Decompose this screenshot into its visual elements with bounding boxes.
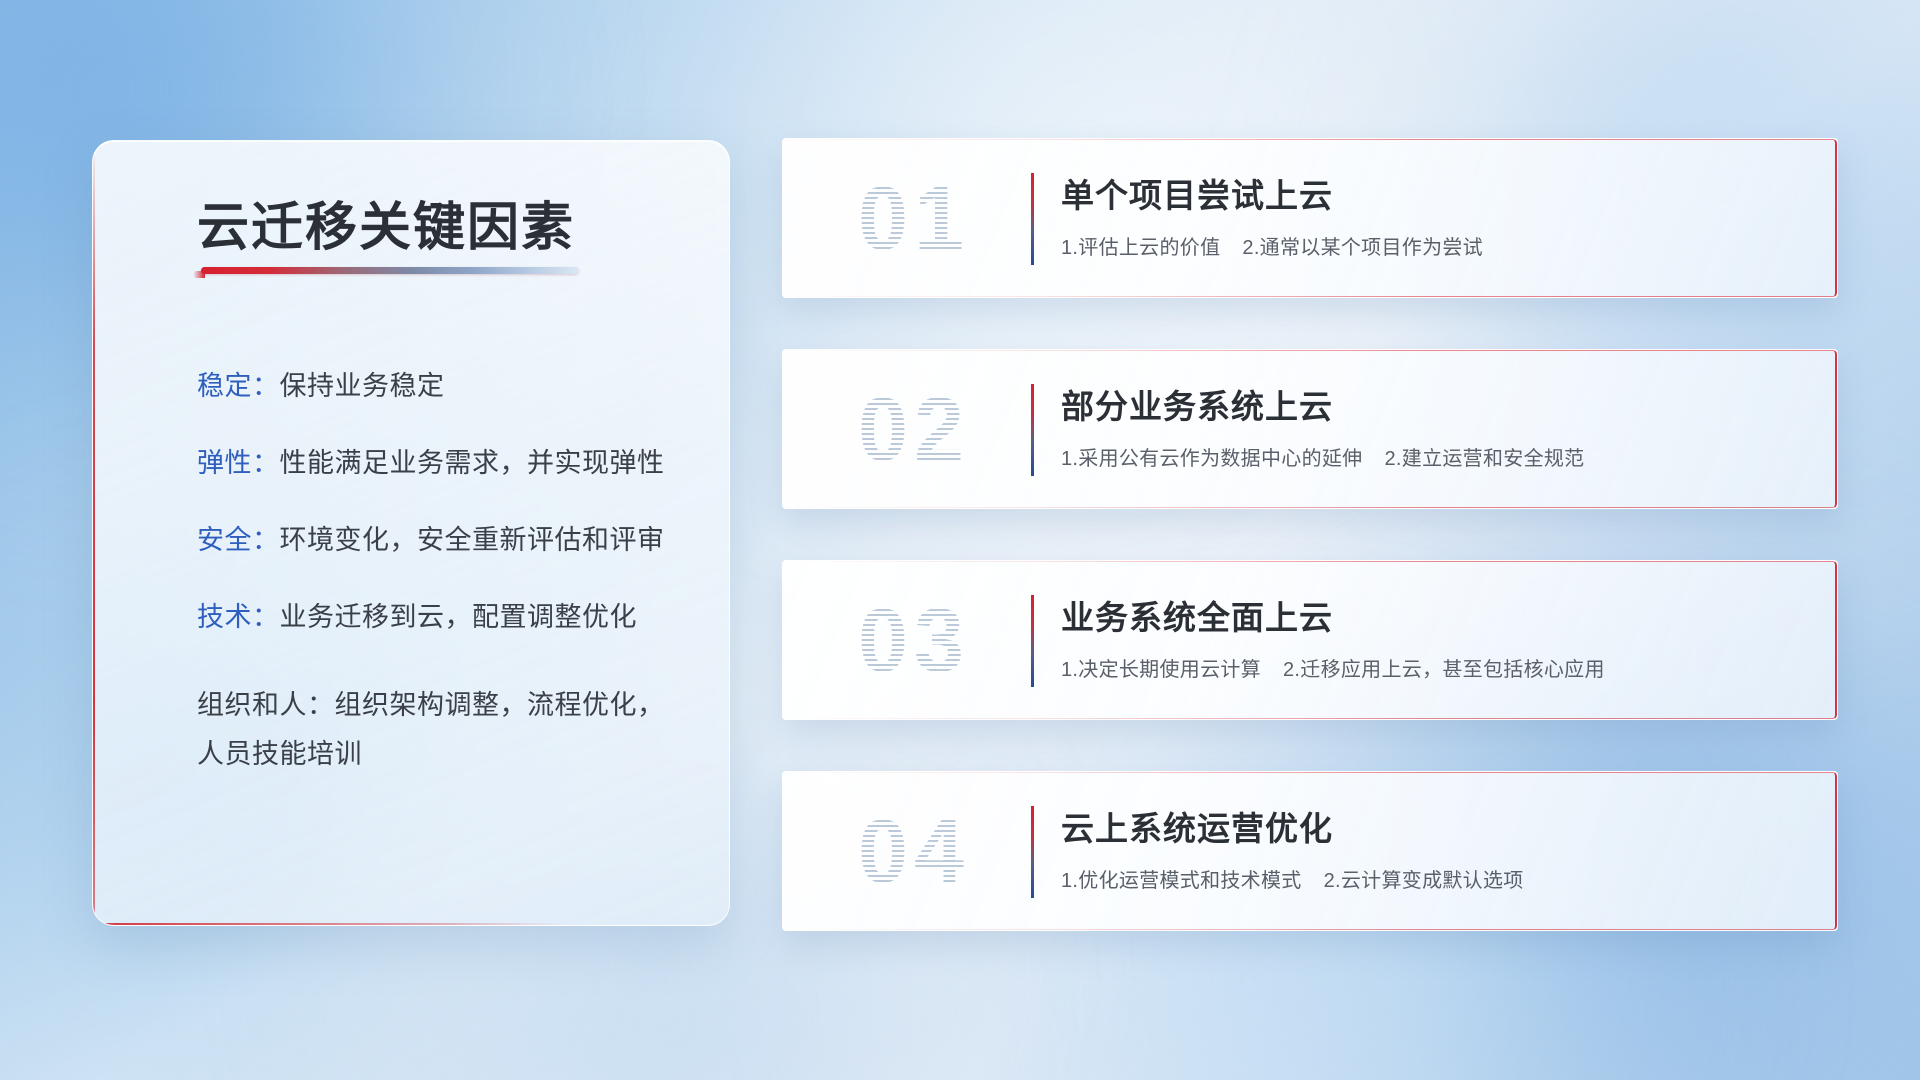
stage-card[interactable]: 01 单个项目尝试上云 1.评估上云的价值2.通常以某个项目作为尝试	[782, 138, 1838, 298]
stage-sub-item: 2.迁移应用上云，甚至包括核心应用	[1283, 659, 1605, 681]
stage-title: 部分业务系统上云	[1061, 380, 1333, 428]
stages-card-list: 01 单个项目尝试上云 1.评估上云的价值2.通常以某个项目作为尝试 02 部分…	[782, 138, 1838, 931]
stage-divider	[1031, 173, 1034, 265]
stage-sub-item: 2.建立运营和安全规范	[1384, 448, 1584, 470]
list-item-text: 保持业务稳定	[280, 371, 445, 401]
key-factors-panel: 云迁移关键因素 稳定：保持业务稳定 弹性：性能满足业务需求，并实现弹性 安全：环…	[92, 140, 730, 926]
list-item: 组织和人：组织架构调整，流程优化，人员技能培训	[197, 681, 687, 779]
stage-divider	[1031, 384, 1034, 476]
stage-number: 03	[819, 589, 1009, 693]
title-underline-rule	[201, 267, 579, 274]
slide-stage: 云迁移关键因素 稳定：保持业务稳定 弹性：性能满足业务需求，并实现弹性 安全：环…	[0, 0, 1920, 1080]
list-item-label: 组织和人：	[197, 690, 335, 720]
stage-card[interactable]: 04 云上系统运营优化 1.优化运营模式和技术模式2.云计算变成默认选项	[782, 771, 1838, 931]
list-item-label: 稳定：	[197, 371, 280, 401]
list-item-text: 环境变化，安全重新评估和评审	[280, 525, 665, 555]
stage-divider	[1031, 806, 1034, 898]
key-factors-list: 稳定：保持业务稳定 弹性：性能满足业务需求，并实现弹性 安全：环境变化，安全重新…	[197, 373, 687, 779]
stage-sub-item: 2.通常以某个项目作为尝试	[1242, 237, 1483, 259]
stage-sub-item: 1.评估上云的价值	[1061, 237, 1220, 259]
list-item: 稳定：保持业务稳定	[197, 373, 687, 400]
stage-number: 02	[819, 378, 1009, 482]
list-item-label: 安全：	[197, 525, 280, 555]
list-item-text: 性能满足业务需求，并实现弹性	[280, 448, 665, 478]
stage-number: 01	[819, 167, 1009, 271]
stage-number: 04	[819, 800, 1009, 904]
stage-divider	[1031, 595, 1034, 687]
stage-title: 单个项目尝试上云	[1061, 169, 1333, 217]
list-item-label: 弹性：	[197, 448, 280, 478]
list-item: 弹性：性能满足业务需求，并实现弹性	[197, 450, 687, 477]
stage-subtitle: 1.优化运营模式和技术模式2.云计算变成默认选项	[1061, 864, 1524, 893]
stage-sub-item: 1.采用公有云作为数据中心的延伸	[1061, 448, 1362, 470]
page-title: 云迁移关键因素	[197, 185, 575, 260]
list-item: 技术：业务迁移到云，配置调整优化	[197, 604, 687, 631]
list-item-label: 技术：	[197, 602, 280, 632]
stage-sub-item: 2.云计算变成默认选项	[1324, 870, 1524, 892]
stage-card[interactable]: 02 部分业务系统上云 1.采用公有云作为数据中心的延伸2.建立运营和安全规范	[782, 349, 1838, 509]
stage-card[interactable]: 03 业务系统全面上云 1.决定长期使用云计算2.迁移应用上云，甚至包括核心应用	[782, 560, 1838, 720]
stage-sub-item: 1.优化运营模式和技术模式	[1061, 870, 1302, 892]
stage-subtitle: 1.评估上云的价值2.通常以某个项目作为尝试	[1061, 231, 1483, 260]
list-item-text: 业务迁移到云，配置调整优化	[280, 602, 638, 632]
stage-subtitle: 1.采用公有云作为数据中心的延伸2.建立运营和安全规范	[1061, 442, 1584, 471]
list-item: 安全：环境变化，安全重新评估和评审	[197, 527, 687, 554]
stage-title: 云上系统运营优化	[1061, 802, 1333, 850]
stage-sub-item: 1.决定长期使用云计算	[1061, 659, 1261, 681]
stage-title: 业务系统全面上云	[1061, 591, 1333, 639]
stage-subtitle: 1.决定长期使用云计算2.迁移应用上云，甚至包括核心应用	[1061, 653, 1605, 682]
